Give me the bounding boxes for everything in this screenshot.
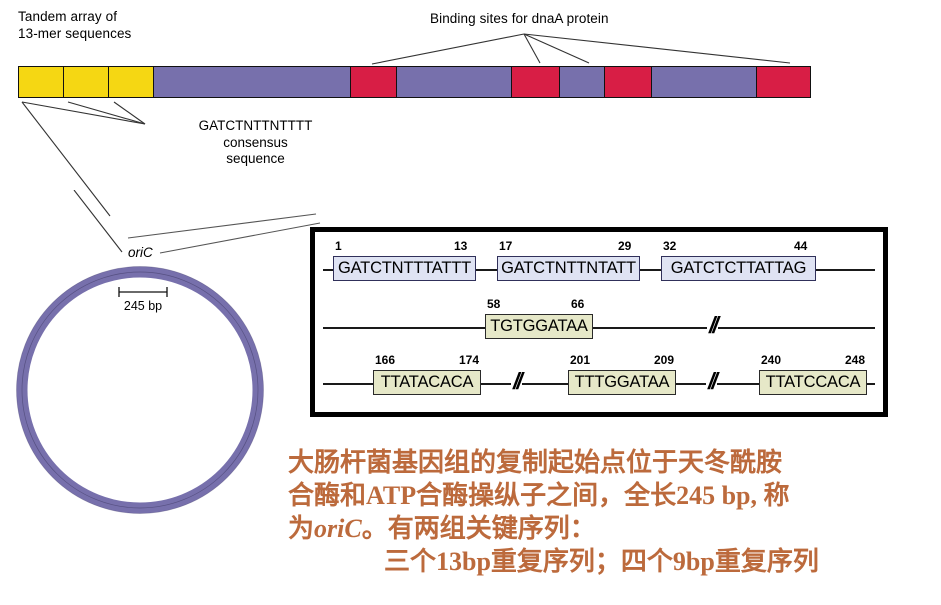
- map-segment-dnaA-box-2: [512, 67, 560, 97]
- sequence-gap-break-icon: //: [707, 312, 718, 338]
- sequence-gap-break-icon: //: [706, 368, 717, 394]
- consensus-sequence-text: GATCTNTTNTTTT: [148, 118, 363, 135]
- map-segment-spacer-1: [154, 67, 351, 97]
- caption-oric-italic: oriC: [314, 514, 362, 543]
- coordinate-start-32: 32: [663, 239, 676, 253]
- coordinate-end-44: 44: [794, 239, 807, 253]
- coordinate-end-13: 13: [454, 239, 467, 253]
- coordinate-start-58: 58: [487, 297, 500, 311]
- sequence-box-GATCTNTTNTATT: GATCTNTTNTATT: [497, 256, 640, 281]
- row-9mer-upper: //TGTGGATAA5866: [315, 300, 883, 346]
- chinese-caption: 大肠杆菌基因组的复制起始点位于天冬酰胺 合酶和ATP合酶操纵子之间，全长245 …: [288, 446, 936, 578]
- coordinate-end-29: 29: [618, 239, 631, 253]
- map-segment-spacer-4: [652, 67, 757, 97]
- map-segment-dnaA-box-3: [605, 67, 652, 97]
- scale-bar-245bp: [118, 286, 168, 298]
- oric-linear-map: [18, 66, 811, 98]
- coordinate-start-1: 1: [335, 239, 342, 253]
- coordinate-end-209: 209: [654, 353, 674, 367]
- oric-expansion-line-upper: [120, 150, 320, 240]
- sequence-box-GATCTNTTTATTT: GATCTNTTTATTT: [333, 256, 476, 281]
- coordinate-start-166: 166: [375, 353, 395, 367]
- map-segment-dnaA-box-1: [351, 67, 397, 97]
- sequence-detail-panel: GATCTNTTTATTT113GATCTNTTNTATT1729GATCTCT…: [310, 227, 888, 417]
- map-segment-13mer-1: [19, 67, 64, 97]
- map-segment-dnaA-box-4: [757, 67, 810, 97]
- sequence-track-line: [323, 327, 875, 329]
- sequence-box-TTATCCACA: TTATCCACA: [759, 370, 867, 395]
- sequence-box-TTATACACA: TTATACACA: [373, 370, 481, 395]
- caption-line-4: 三个13bp重复序列；四个9bp重复序列: [288, 545, 936, 578]
- caption-line-3-pre: 为: [288, 514, 314, 543]
- caption-line-3-post: 。有两组关键序列：: [362, 514, 596, 543]
- coordinate-end-174: 174: [459, 353, 479, 367]
- sequence-box-GATCTCTTATTAG: GATCTCTTATTAG: [661, 256, 816, 281]
- coordinate-start-201: 201: [570, 353, 590, 367]
- coordinate-start-240: 240: [761, 353, 781, 367]
- scale-bar-label: 245 bp: [108, 299, 178, 313]
- sequence-box-TGTGGATAA: TGTGGATAA: [485, 314, 593, 339]
- coordinate-start-17: 17: [499, 239, 512, 253]
- row-13mer: GATCTNTTTATTT113GATCTNTTNTATT1729GATCTCT…: [315, 242, 883, 288]
- coordinate-end-248: 248: [845, 353, 865, 367]
- coordinate-end-66: 66: [571, 297, 584, 311]
- consensus-word-1: consensus: [148, 135, 363, 152]
- caption-line-2: 合酶和ATP合酶操纵子之间，全长245 bp, 称: [288, 479, 936, 512]
- map-segment-13mer-2: [64, 67, 109, 97]
- map-segment-13mer-3: [109, 67, 154, 97]
- caption-line-1: 大肠杆菌基因组的复制起始点位于天冬酰胺: [288, 446, 936, 479]
- sequence-box-TTTGGATAA: TTTGGATAA: [568, 370, 676, 395]
- row-9mer-lower: ////TTATACACA166174TTTGGATAA201209TTATCC…: [315, 356, 883, 402]
- map-segment-spacer-2: [397, 67, 512, 97]
- caption-line-3: 为oriC。有两组关键序列：: [288, 512, 936, 545]
- sequence-gap-break-icon: //: [511, 368, 522, 394]
- map-segment-spacer-3: [560, 67, 605, 97]
